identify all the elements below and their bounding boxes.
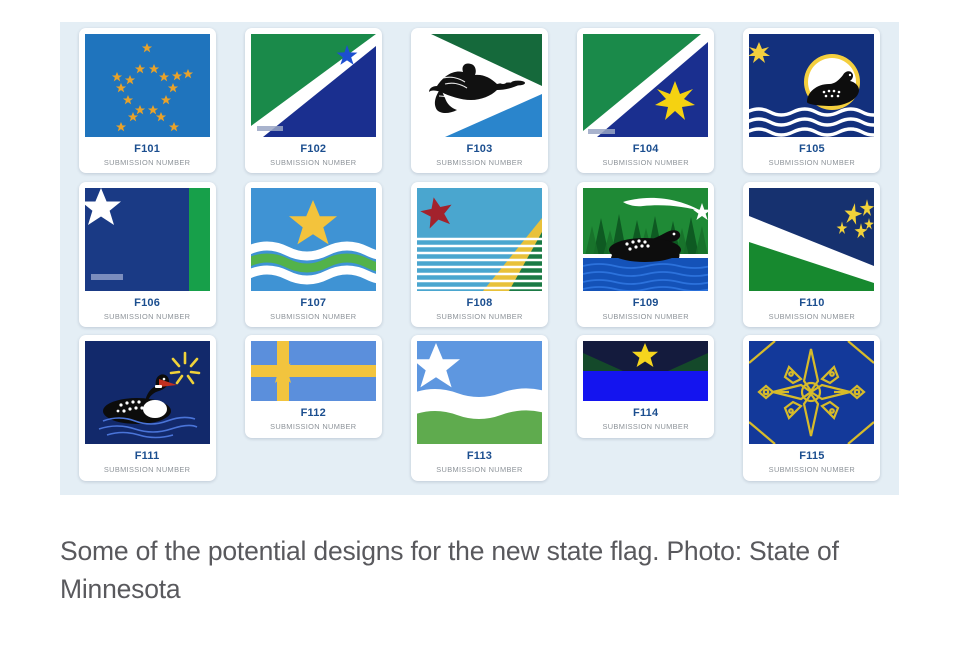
flag-card-f113[interactable]: F113 SUBMISSION NUMBER xyxy=(411,335,548,480)
grid-cell: F101 SUBMISSION NUMBER xyxy=(64,28,230,182)
grid-cell: F113 SUBMISSION NUMBER xyxy=(396,335,562,489)
flag-card-id: F113 xyxy=(467,451,492,462)
flag-card-sublabel: SUBMISSION NUMBER xyxy=(270,313,356,320)
flag-card-f106[interactable]: F106 SUBMISSION NUMBER xyxy=(79,182,216,327)
flag-card-sublabel: SUBMISSION NUMBER xyxy=(436,466,522,473)
grid-cell: F114 SUBMISSION NUMBER xyxy=(563,335,729,489)
flag-card-id: F102 xyxy=(300,144,326,155)
flag-image-f101 xyxy=(85,34,210,137)
flag-card-f107[interactable]: F107 SUBMISSION NUMBER xyxy=(245,182,382,327)
grid-cell: F112 SUBMISSION NUMBER xyxy=(230,335,396,489)
flag-card-sublabel: SUBMISSION NUMBER xyxy=(602,159,688,166)
grid-cell: F111 SUBMISSION NUMBER xyxy=(64,335,230,489)
grid-cell: F115 SUBMISSION NUMBER xyxy=(729,335,895,489)
flag-card-f112[interactable]: F112 SUBMISSION NUMBER xyxy=(245,335,382,437)
grid-cell: F109 SUBMISSION NUMBER xyxy=(563,182,729,336)
flag-card-sublabel: SUBMISSION NUMBER xyxy=(104,159,190,166)
flag-image-f113 xyxy=(417,341,542,444)
grid-cell: F103 SUBMISSION NUMBER xyxy=(396,28,562,182)
flag-card-f111[interactable]: F111 SUBMISSION NUMBER xyxy=(79,335,216,480)
flag-card-sublabel: SUBMISSION NUMBER xyxy=(769,159,855,166)
flag-card-sublabel: SUBMISSION NUMBER xyxy=(270,423,356,430)
flag-card-f115[interactable]: F115 SUBMISSION NUMBER xyxy=(743,335,880,480)
flag-card-sublabel: SUBMISSION NUMBER xyxy=(602,313,688,320)
flag-image-f112 xyxy=(251,341,376,401)
flag-image-f111 xyxy=(85,341,210,444)
flag-card-f108[interactable]: F108 SUBMISSION NUMBER xyxy=(411,182,548,327)
flag-image-f102 xyxy=(251,34,376,137)
flag-grid: F101 SUBMISSION NUMBER xyxy=(60,22,899,495)
flag-card-sublabel: SUBMISSION NUMBER xyxy=(436,313,522,320)
flag-card-id: F106 xyxy=(134,298,160,309)
flag-image-f103 xyxy=(417,34,542,137)
grid-cell: F107 SUBMISSION NUMBER xyxy=(230,182,396,336)
grid-cell: F102 SUBMISSION NUMBER xyxy=(230,28,396,182)
flag-card-id: F109 xyxy=(633,298,659,309)
grid-cell: F106 SUBMISSION NUMBER xyxy=(64,182,230,336)
flag-image-f104 xyxy=(583,34,708,137)
grid-cell: F105 SUBMISSION NUMBER xyxy=(729,28,895,182)
grid-cell: F104 SUBMISSION NUMBER xyxy=(563,28,729,182)
flag-image-f110 xyxy=(749,188,874,291)
flag-image-f107 xyxy=(251,188,376,291)
flag-card-id: F107 xyxy=(300,298,326,309)
flag-card-f105[interactable]: F105 SUBMISSION NUMBER xyxy=(743,28,880,173)
flag-card-id: F112 xyxy=(301,408,326,419)
flag-card-f101[interactable]: F101 SUBMISSION NUMBER xyxy=(79,28,216,173)
flag-image-f105 xyxy=(749,34,874,137)
flag-card-sublabel: SUBMISSION NUMBER xyxy=(104,313,190,320)
flag-card-id: F108 xyxy=(467,298,493,309)
flag-card-sublabel: SUBMISSION NUMBER xyxy=(104,466,190,473)
image-caption: Some of the potential designs for the ne… xyxy=(60,532,860,608)
flag-card-f103[interactable]: F103 SUBMISSION NUMBER xyxy=(411,28,548,173)
flag-card-sublabel: SUBMISSION NUMBER xyxy=(602,423,688,430)
flag-card-id: F114 xyxy=(633,408,658,419)
flag-card-id: F104 xyxy=(633,144,659,155)
flag-card-f110[interactable]: F110 SUBMISSION NUMBER xyxy=(743,182,880,327)
flag-image-f106 xyxy=(85,188,210,291)
flag-gallery: F101 SUBMISSION NUMBER xyxy=(60,22,899,495)
grid-cell: F110 SUBMISSION NUMBER xyxy=(729,182,895,336)
flag-card-sublabel: SUBMISSION NUMBER xyxy=(436,159,522,166)
flag-card-f102[interactable]: F102 SUBMISSION NUMBER xyxy=(245,28,382,173)
flag-card-id: F111 xyxy=(135,451,160,462)
flag-image-f114 xyxy=(583,341,708,401)
flag-image-f108 xyxy=(417,188,542,291)
flag-image-f109 xyxy=(583,188,708,291)
flag-card-id: F101 xyxy=(134,144,160,155)
flag-image-f115 xyxy=(749,341,874,444)
flag-card-id: F105 xyxy=(799,144,825,155)
page-root: F101 SUBMISSION NUMBER xyxy=(0,0,960,664)
flag-card-id: F115 xyxy=(799,451,824,462)
grid-cell: F108 SUBMISSION NUMBER xyxy=(396,182,562,336)
flag-card-sublabel: SUBMISSION NUMBER xyxy=(270,159,356,166)
flag-card-f104[interactable]: F104 SUBMISSION NUMBER xyxy=(577,28,714,173)
flag-card-f109[interactable]: F109 SUBMISSION NUMBER xyxy=(577,182,714,327)
flag-card-id: F103 xyxy=(467,144,493,155)
flag-card-f114[interactable]: F114 SUBMISSION NUMBER xyxy=(577,335,714,437)
flag-card-id: F110 xyxy=(799,298,824,309)
flag-card-sublabel: SUBMISSION NUMBER xyxy=(769,313,855,320)
flag-card-sublabel: SUBMISSION NUMBER xyxy=(769,466,855,473)
